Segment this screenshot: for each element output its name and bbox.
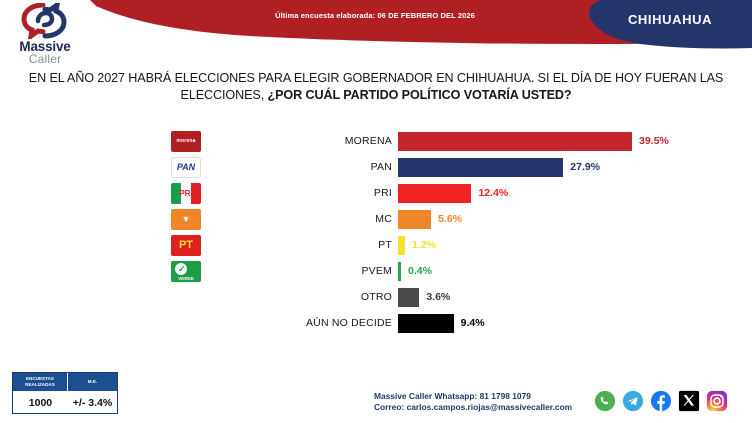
category-label: MC bbox=[232, 213, 392, 225]
bar-pvem bbox=[398, 262, 401, 281]
whatsapp-icon[interactable] bbox=[594, 390, 616, 412]
party-logo-mark: ✓VERDE bbox=[171, 261, 201, 282]
massive-caller-logo: Massive Caller bbox=[8, 3, 82, 65]
bar-value-label: 12.4% bbox=[478, 187, 508, 199]
x-icon[interactable] bbox=[678, 390, 700, 412]
bar-value-label: 1.2% bbox=[412, 239, 436, 251]
stats-header-row: ENCUESTAS REALIZADAS M.E. bbox=[13, 373, 117, 391]
contact-info: Massive Caller Whatsapp: 81 1798 1079 Co… bbox=[374, 391, 572, 413]
bar-morena bbox=[398, 132, 632, 151]
title-line-2: ELECCIONES, ¿POR CUÁL PARTIDO POLÍTICO V… bbox=[26, 87, 726, 104]
stats-header-margin: M.E. bbox=[68, 373, 117, 391]
bar-mc bbox=[398, 210, 431, 229]
bar-pan bbox=[398, 158, 563, 177]
stats-header-surveys: ENCUESTAS REALIZADAS bbox=[13, 373, 68, 391]
chart-row: OTRO3.6% bbox=[0, 284, 752, 310]
party-logo-mark: PRI bbox=[171, 183, 201, 204]
header-background bbox=[0, 0, 752, 56]
chart-row: AÚN NO DECIDE9.4% bbox=[0, 310, 752, 336]
category-label: MORENA bbox=[232, 135, 392, 147]
party-logo-pri: PRI bbox=[170, 182, 202, 204]
page-header: Última encuesta elaborada: 06 DE FEBRERO… bbox=[0, 0, 752, 56]
bar-value-label: 3.6% bbox=[426, 291, 450, 303]
stats-value-surveys: 1000 bbox=[13, 391, 68, 414]
party-logo-mc: ▼ bbox=[170, 208, 202, 230]
party-logo-pvem: ✓VERDE bbox=[170, 260, 202, 282]
category-label: PVEM bbox=[232, 265, 392, 277]
poll-results-chart: morenaMORENA39.5%PANPAN27.9%PRIPRI12.4%▼… bbox=[0, 128, 752, 338]
social-links bbox=[594, 390, 728, 412]
title-line-2-strong: ¿POR CUÁL PARTIDO POLÍTICO VOTARÍA USTED… bbox=[268, 88, 572, 102]
category-label: OTRO bbox=[232, 291, 392, 303]
bar-value-label: 9.4% bbox=[461, 317, 485, 329]
bar-otro bbox=[398, 288, 419, 307]
bar-value-label: 5.6% bbox=[438, 213, 462, 225]
party-logo-pan: PAN bbox=[170, 156, 202, 178]
facebook-icon[interactable] bbox=[650, 390, 672, 412]
category-label: PT bbox=[232, 239, 392, 251]
chart-question-title: EN EL AÑO 2027 HABRÁ ELECCIONES PARA ELE… bbox=[26, 70, 726, 104]
bar-pri bbox=[398, 184, 471, 203]
category-label: PAN bbox=[232, 161, 392, 173]
chart-row: ▼MC5.6% bbox=[0, 206, 752, 232]
state-name: CHIHUAHUA bbox=[600, 12, 740, 27]
stats-value-margin: +/- 3.4% bbox=[68, 391, 117, 414]
logo-mark-icon bbox=[21, 3, 67, 39]
chart-row: PANPAN27.9% bbox=[0, 154, 752, 180]
party-logo-pt: PT bbox=[170, 234, 202, 256]
bar-value-label: 39.5% bbox=[639, 135, 669, 147]
survey-stats-box: ENCUESTAS REALIZADAS M.E. 1000 +/- 3.4% bbox=[12, 372, 118, 414]
instagram-icon[interactable] bbox=[706, 390, 728, 412]
chart-row: ✓VERDEPVEM0.4% bbox=[0, 258, 752, 284]
bar-value-label: 27.9% bbox=[570, 161, 600, 173]
category-label: PRI bbox=[232, 187, 392, 199]
contact-email: Correo: carlos.campos.riojas@massivecall… bbox=[374, 402, 572, 413]
telegram-icon[interactable] bbox=[622, 390, 644, 412]
category-label: AÚN NO DECIDE bbox=[232, 317, 392, 329]
chart-row: morenaMORENA39.5% bbox=[0, 128, 752, 154]
bar-value-label: 0.4% bbox=[408, 265, 432, 277]
survey-date: Última encuesta elaborada: 06 DE FEBRERO… bbox=[225, 11, 525, 20]
title-line-2-plain: ELECCIONES, bbox=[181, 88, 268, 102]
title-line-1: EN EL AÑO 2027 HABRÁ ELECCIONES PARA ELE… bbox=[26, 70, 726, 87]
party-logo-mark: morena bbox=[171, 131, 201, 152]
contact-whatsapp: Massive Caller Whatsapp: 81 1798 1079 bbox=[374, 391, 572, 402]
chart-row: PRIPRI12.4% bbox=[0, 180, 752, 206]
party-logo-mark: PT bbox=[171, 235, 201, 256]
party-logo-morena: morena bbox=[170, 130, 202, 152]
chart-row: PTPT1.2% bbox=[0, 232, 752, 258]
party-logo-mark: ▼ bbox=[171, 209, 201, 230]
bar-pt bbox=[398, 236, 405, 255]
stats-value-row: 1000 +/- 3.4% bbox=[13, 391, 117, 414]
logo-text-caller: Caller bbox=[8, 52, 82, 66]
bar-aún-no-decide bbox=[398, 314, 454, 333]
party-logo-mark: PAN bbox=[171, 157, 201, 178]
